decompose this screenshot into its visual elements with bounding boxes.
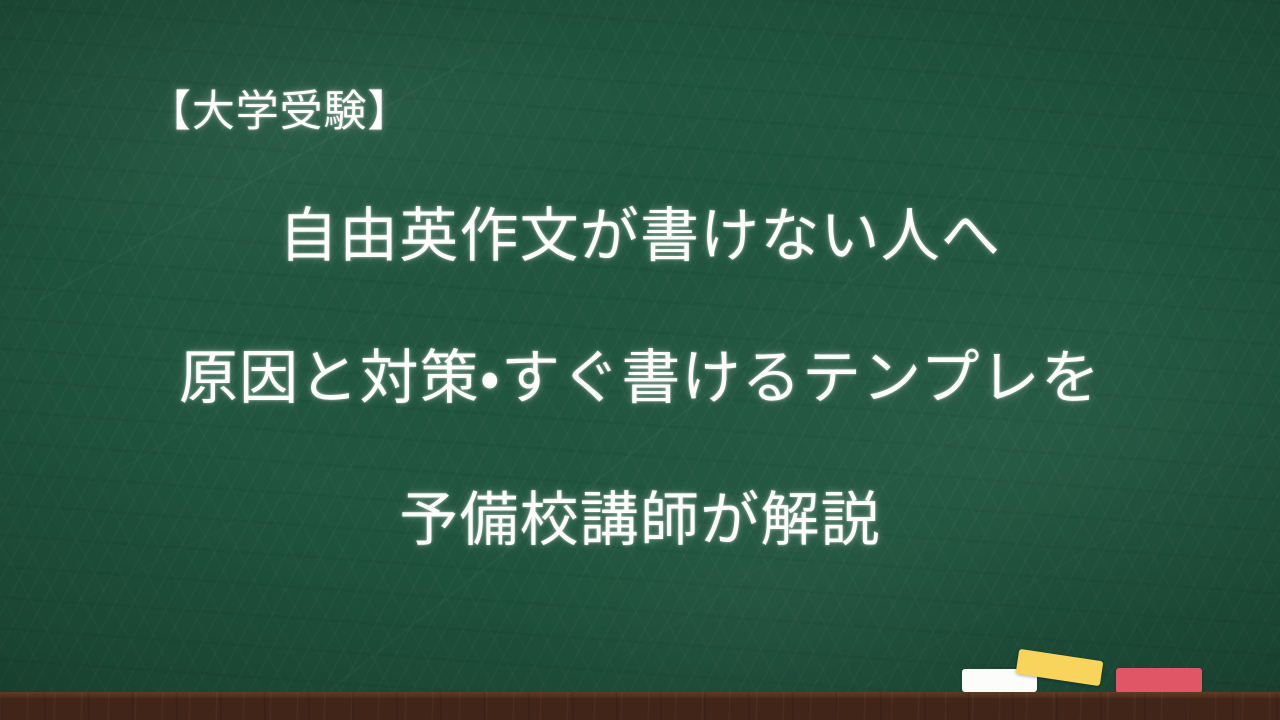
title-line-3: 予備校講師が解説 — [0, 490, 1280, 549]
tray-lip — [0, 692, 1280, 698]
red-chalk-stick — [1116, 668, 1202, 693]
board-content: 【大学受験】 自由英作文が書けない人へ 原因と対策・すぐ書けるテンプレを 予備校… — [0, 0, 1280, 692]
title-line-1: 自由英作文が書けない人へ — [0, 206, 1280, 265]
chalk-tray — [0, 692, 1280, 720]
title-card: 【大学受験】 自由英作文が書けない人へ 原因と対策・すぐ書けるテンプレを 予備校… — [0, 0, 1280, 720]
category-badge: 【大学受験】 — [148, 88, 411, 137]
blackboard: 【大学受験】 自由英作文が書けない人へ 原因と対策・すぐ書けるテンプレを 予備校… — [0, 0, 1280, 692]
title-block: 自由英作文が書けない人へ 原因と対策・すぐ書けるテンプレを 予備校講師が解説 — [0, 206, 1280, 549]
title-line-2: 原因と対策・すぐ書けるテンプレを — [0, 348, 1280, 407]
